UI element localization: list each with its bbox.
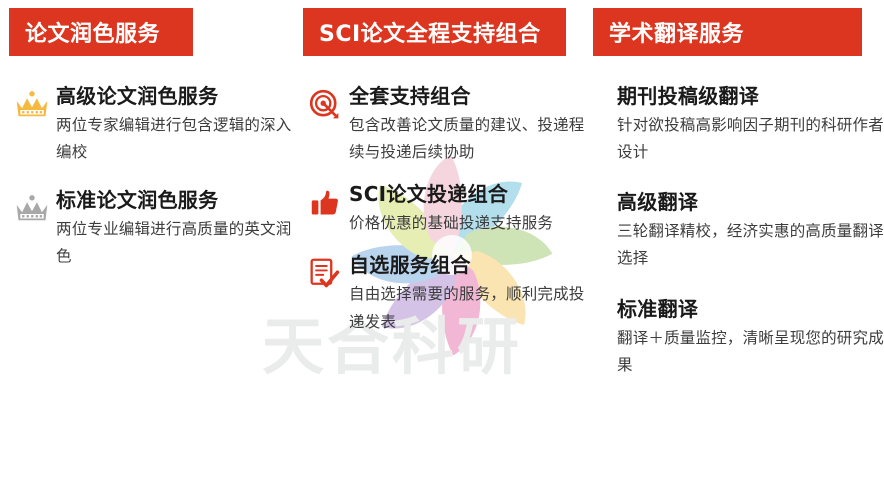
column-body: 全套支持组合 包含改善论文质量的建议、投递程续与投递后续协助 SCI论文投递组合…: [293, 84, 585, 481]
service-title: SCI论文投递组合: [349, 182, 585, 207]
service-title: 标准翻译: [617, 297, 884, 322]
column-title: 学术翻译服务: [593, 16, 760, 48]
service-item-text: 高级论文润色服务 两位专家编辑进行包含逻辑的深入编校: [56, 84, 293, 166]
column-sci-full-support: SCI论文全程支持组合 全套支持组合 包含改善论文质量的建议、投递程续与投递后续…: [293, 0, 585, 481]
service-title: 高级论文润色服务: [56, 84, 293, 109]
service-description: 包含改善论文质量的建议、投递程续与投递后续协助: [349, 112, 585, 166]
service-item-text: 自选服务组合 自由选择需要的服务，顺利完成投递发表: [349, 253, 585, 335]
column-body: 期刊投稿级翻译 针对欲投稿高影响因子期刊的科研作者设计 高级翻译 三轮翻译精校，…: [585, 84, 884, 481]
column-header-sci-full-support: SCI论文全程支持组合: [303, 8, 566, 56]
service-description: 自由选择需要的服务，顺利完成投递发表: [349, 281, 585, 335]
service-title: 全套支持组合: [349, 84, 585, 109]
service-title: 自选服务组合: [349, 253, 585, 278]
service-item[interactable]: 高级论文润色服务 两位专家编辑进行包含逻辑的深入编校: [0, 84, 293, 166]
service-item[interactable]: 全套支持组合 包含改善论文质量的建议、投递程续与投递后续协助: [293, 84, 585, 166]
service-item[interactable]: 期刊投稿级翻译 针对欲投稿高影响因子期刊的科研作者设计: [585, 84, 884, 166]
gold-crown-icon: [10, 86, 54, 124]
service-item[interactable]: 自选服务组合 自由选择需要的服务，顺利完成投递发表: [293, 253, 585, 335]
service-description: 两位专家编辑进行包含逻辑的深入编校: [56, 112, 293, 166]
service-item-text: 全套支持组合 包含改善论文质量的建议、投递程续与投递后续协助: [349, 84, 585, 166]
service-description: 三轮翻译精校，经济实惠的高质量翻译选择: [617, 218, 884, 272]
target-dart-icon: [303, 86, 347, 124]
service-title: 期刊投稿级翻译: [617, 84, 884, 109]
service-item[interactable]: 高级翻译 三轮翻译精校，经济实惠的高质量翻译选择: [585, 190, 884, 272]
service-title: 高级翻译: [617, 190, 884, 215]
service-description: 针对欲投稿高影响因子期刊的科研作者设计: [617, 112, 884, 166]
service-item-text: 高级翻译 三轮翻译精校，经济实惠的高质量翻译选择: [617, 190, 884, 272]
silver-crown-icon: [10, 190, 54, 228]
service-item[interactable]: 标准论文润色服务 两位专业编辑进行高质量的英文润色: [0, 188, 293, 270]
service-item-text: 标准翻译 翻译＋质量监控，清晰呈现您的研究成果: [617, 297, 884, 379]
column-paper-polishing: 论文润色服务: [0, 0, 293, 481]
document-check-icon: [303, 255, 347, 293]
service-item[interactable]: 标准翻译 翻译＋质量监控，清晰呈现您的研究成果: [585, 297, 884, 379]
column-header-academic-translation: 学术翻译服务: [593, 8, 862, 56]
column-title: SCI论文全程支持组合: [303, 16, 557, 48]
service-item[interactable]: SCI论文投递组合 价格优惠的基础投递支持服务: [293, 182, 585, 237]
thumbs-up-icon: [303, 184, 347, 222]
service-item-text: 期刊投稿级翻译 针对欲投稿高影响因子期刊的科研作者设计: [617, 84, 884, 166]
service-item-text: SCI论文投递组合 价格优惠的基础投递支持服务: [349, 182, 585, 237]
column-academic-translation: 学术翻译服务 期刊投稿级翻译 针对欲投稿高影响因子期刊的科研作者设计 高级翻译 …: [585, 0, 884, 481]
column-body: 高级论文润色服务 两位专家编辑进行包含逻辑的深入编校: [0, 84, 293, 481]
column-title: 论文润色服务: [9, 16, 176, 48]
column-header-paper-polishing: 论文润色服务: [9, 8, 193, 56]
service-description: 价格优惠的基础投递支持服务: [349, 210, 585, 237]
service-description: 两位专业编辑进行高质量的英文润色: [56, 216, 293, 270]
service-description: 翻译＋质量监控，清晰呈现您的研究成果: [617, 325, 884, 379]
service-item-text: 标准论文润色服务 两位专业编辑进行高质量的英文润色: [56, 188, 293, 270]
service-columns: 论文润色服务: [0, 0, 884, 481]
service-title: 标准论文润色服务: [56, 188, 293, 213]
